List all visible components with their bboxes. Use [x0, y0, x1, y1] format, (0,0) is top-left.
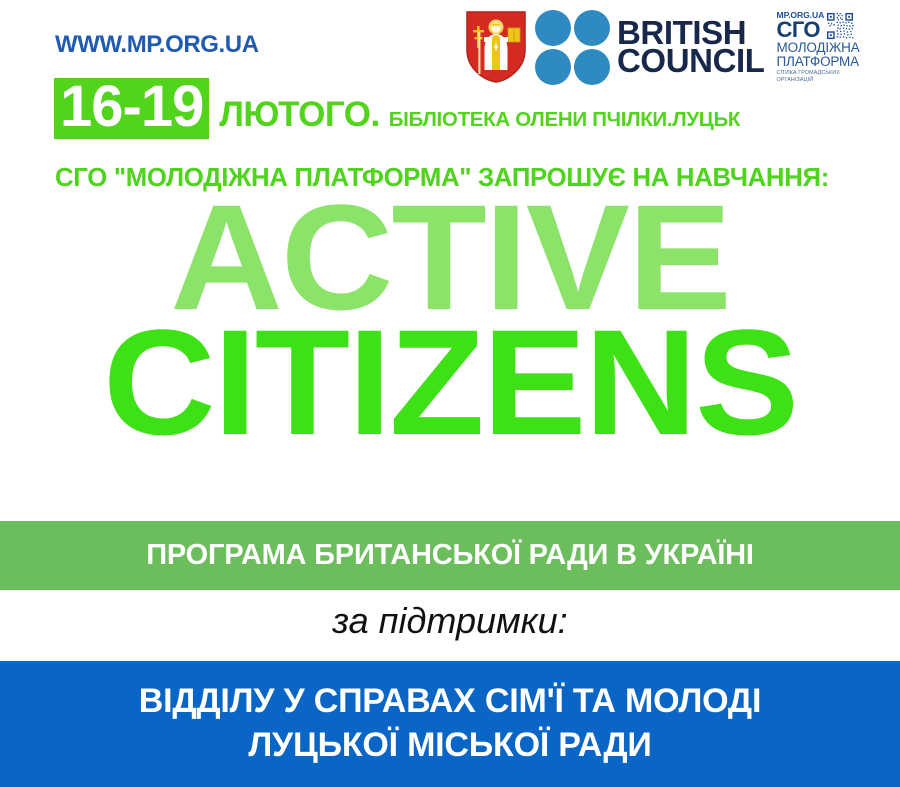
date-month: ЛЮТОГО. [219, 95, 379, 135]
sgo-line3: СПІЛКА ГРОМАДСЬКИХ ОРГАНІЗАЦІЙ [777, 70, 875, 83]
date-line: 16-19 ЛЮТОГО. БІБЛІОТЕКА ОЛЕНИ ПЧІЛКИ.ЛУ… [54, 78, 740, 139]
sgo-mark: СГО [777, 20, 825, 41]
date-range: 16-19 [54, 78, 209, 139]
program-banner-text: ПРОГРАМА БРИТАНСЬКОЇ РАДИ В УКРАЇНІ [146, 539, 753, 572]
program-banner: ПРОГРАМА БРИТАНСЬКОЇ РАДИ В УКРАЇНІ [0, 521, 900, 590]
sgo-molodizhna-platforma-logo: MP.ORG.UA СГО [773, 11, 875, 84]
sgo-line1: МОЛОДІЖНА [777, 41, 875, 55]
poster-root: WWW.MP.ORG.UA [0, 0, 900, 787]
support-label: за підтримки: [0, 600, 900, 642]
qr-code-icon [826, 12, 854, 40]
british-council-logo: BRITISH COUNCIL [535, 10, 765, 85]
logo-row: BRITISH COUNCIL MP.ORG.UA СГО [465, 6, 875, 88]
hero-line-citizens: CITIZENS [0, 319, 900, 445]
sgo-line2: ПЛАТФОРМА [777, 55, 875, 69]
supporter-line1: ВІДДІЛУ У СПРАВАХ СІМ'Ї ТА МОЛОДІ [139, 680, 761, 724]
hero-title: ACTIVE CITIZENS [0, 196, 900, 445]
date-venue: БІБЛІОТЕКА ОЛЕНИ ПЧІЛКИ.ЛУЦЬК [389, 108, 740, 132]
british-council-line2: COUNCIL [617, 47, 765, 75]
website-url: WWW.MP.ORG.UA [55, 31, 259, 59]
four-circles-icon [535, 10, 610, 85]
supporter-line2: ЛУЦЬКОЇ МІСЬКОЇ РАДИ [248, 724, 651, 768]
supporter-footer: ВІДДІЛУ У СПРАВАХ СІМ'Ї ТА МОЛОДІ ЛУЦЬКО… [0, 661, 900, 787]
lutsk-coat-of-arms-icon [465, 10, 527, 84]
